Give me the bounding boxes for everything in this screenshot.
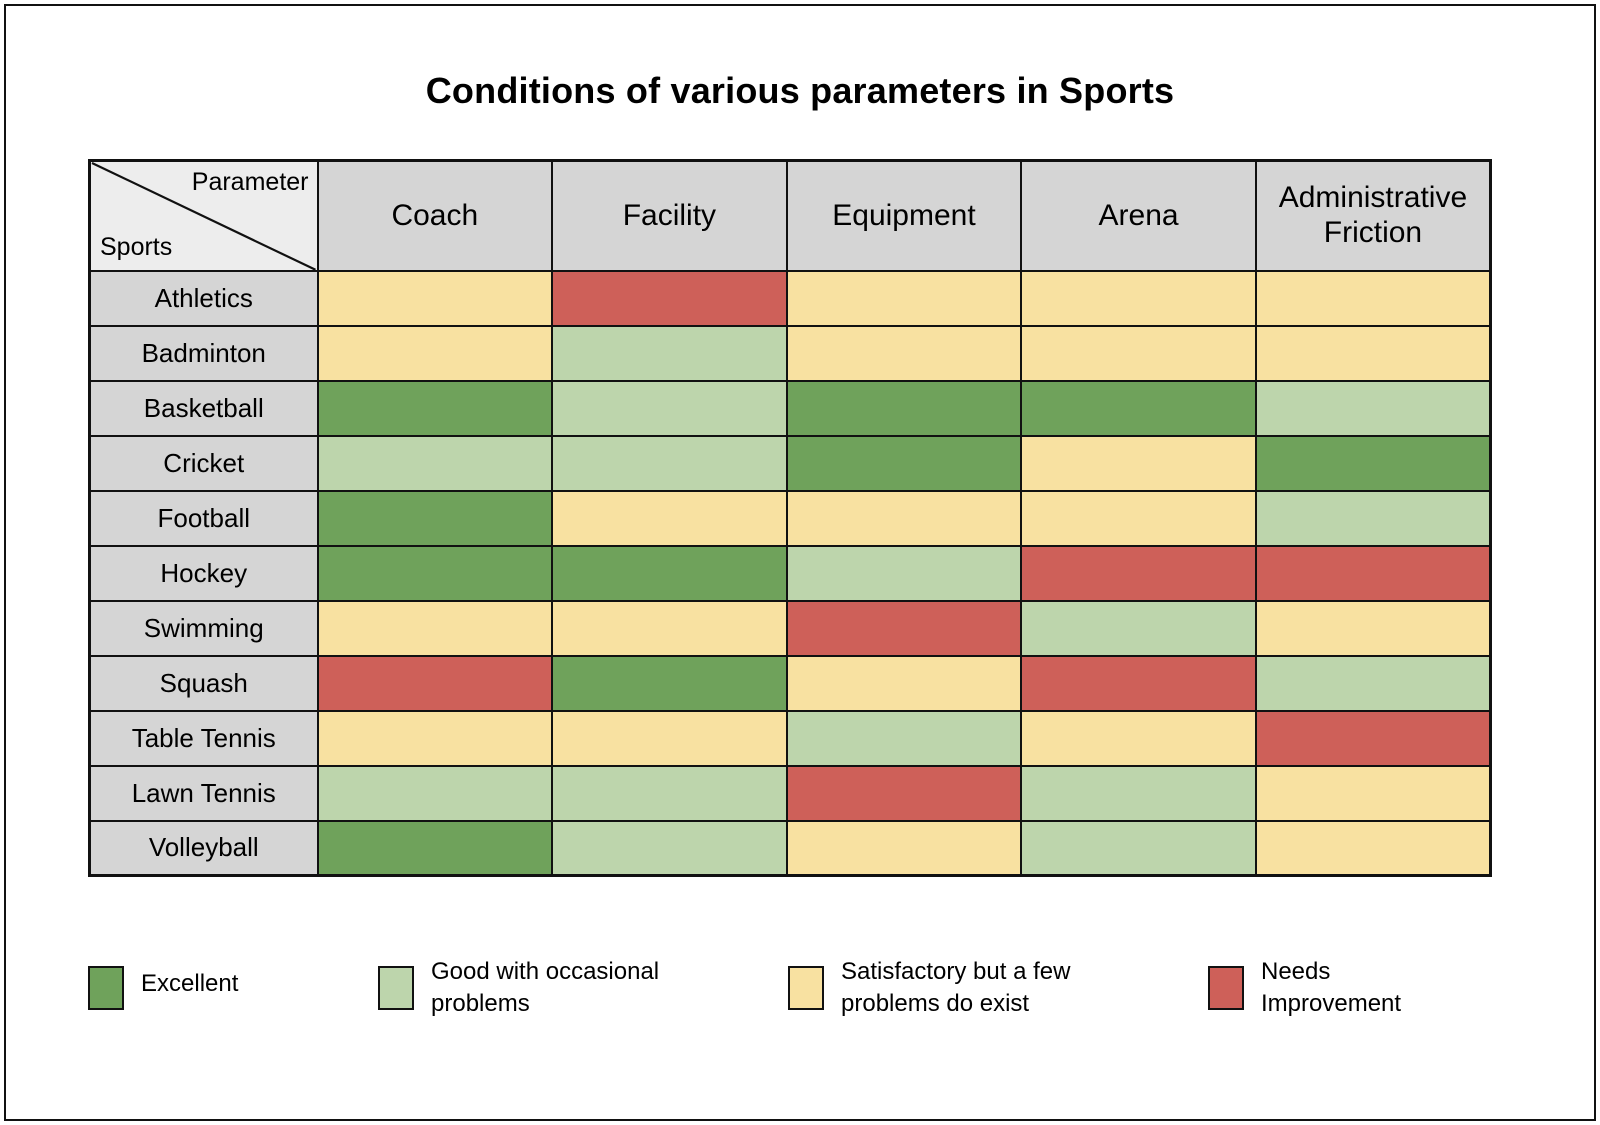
legend-item-needs-improvement[interactable]: Needs Improvement (1208, 956, 1508, 1019)
heatmap-cell[interactable] (787, 601, 1022, 656)
corner-sports-label: Sports (100, 234, 172, 262)
matrix-row: Cricket (90, 436, 1491, 491)
heatmap-cell[interactable] (1021, 381, 1256, 436)
heatmap-cell[interactable] (1021, 326, 1256, 381)
heatmap-cell[interactable] (787, 656, 1022, 711)
heatmap-cell[interactable] (1021, 546, 1256, 601)
legend-swatch-icon (378, 966, 414, 1010)
corner-parameter-label: Parameter (192, 169, 309, 197)
heatmap-cell[interactable] (318, 821, 553, 876)
heatmap-cell[interactable] (1021, 711, 1256, 766)
matrix-row: Volleyball (90, 821, 1491, 876)
heatmap-cell[interactable] (787, 546, 1022, 601)
heatmap-cell[interactable] (318, 271, 553, 326)
row-header-table-tennis: Table Tennis (90, 711, 318, 766)
heatmap-cell[interactable] (1256, 436, 1491, 491)
row-header-swimming: Swimming (90, 601, 318, 656)
heatmap-cell[interactable] (318, 601, 553, 656)
row-header-athletics: Athletics (90, 271, 318, 326)
row-header-volleyball: Volleyball (90, 821, 318, 876)
heatmap-cell[interactable] (787, 271, 1022, 326)
heatmap-cell[interactable] (318, 766, 553, 821)
heatmap-cell[interactable] (1256, 326, 1491, 381)
row-header-cricket: Cricket (90, 436, 318, 491)
column-header-administrative-friction: Administrative Friction (1256, 161, 1491, 271)
heatmap-cell[interactable] (1021, 271, 1256, 326)
corner-axis-cell: Parameter Sports (90, 161, 318, 271)
heatmap-cell[interactable] (787, 381, 1022, 436)
heatmap-cell[interactable] (1021, 491, 1256, 546)
page-title: Conditions of various parameters in Spor… (6, 70, 1594, 112)
legend-label: Good with occasional problems (431, 956, 721, 1019)
legend-label: Satisfactory but a few problems do exist (841, 956, 1131, 1019)
heatmap-cell[interactable] (552, 601, 787, 656)
heatmap-cell[interactable] (318, 546, 553, 601)
heatmap-cell[interactable] (552, 711, 787, 766)
row-header-squash: Squash (90, 656, 318, 711)
matrix-row: Table Tennis (90, 711, 1491, 766)
row-header-badminton: Badminton (90, 326, 318, 381)
matrix-row: Athletics (90, 271, 1491, 326)
heatmap-cell[interactable] (1021, 601, 1256, 656)
matrix-row: Squash (90, 656, 1491, 711)
legend-swatch-icon (788, 966, 824, 1010)
heatmap-cell[interactable] (1256, 546, 1491, 601)
matrix-row: Hockey (90, 546, 1491, 601)
heatmap-cell[interactable] (552, 326, 787, 381)
heatmap-cell[interactable] (787, 436, 1022, 491)
heatmap-cell[interactable] (318, 711, 553, 766)
legend-item-excellent[interactable]: Excellent (88, 956, 378, 1010)
heatmap-cell[interactable] (1256, 656, 1491, 711)
heatmap-cell[interactable] (1021, 821, 1256, 876)
heatmap-cell[interactable] (787, 326, 1022, 381)
heatmap-cell[interactable] (787, 766, 1022, 821)
heatmap-cell[interactable] (1256, 271, 1491, 326)
matrix-row: Basketball (90, 381, 1491, 436)
heatmap-cell[interactable] (552, 436, 787, 491)
legend-swatch-icon (1208, 966, 1244, 1010)
heatmap-cell[interactable] (552, 766, 787, 821)
conditions-matrix: Parameter Sports Coach Facility Equipmen… (88, 159, 1492, 877)
heatmap-cell[interactable] (318, 381, 553, 436)
column-header-arena: Arena (1021, 161, 1256, 271)
figure-frame: Conditions of various parameters in Spor… (4, 4, 1596, 1121)
heatmap-cell[interactable] (318, 656, 553, 711)
heatmap-cell[interactable] (1021, 766, 1256, 821)
matrix-row: Lawn Tennis (90, 766, 1491, 821)
legend: ExcellentGood with occasional problemsSa… (88, 956, 1508, 1019)
heatmap-cell[interactable] (318, 436, 553, 491)
legend-label: Excellent (141, 968, 238, 1000)
heatmap-cell[interactable] (552, 821, 787, 876)
row-header-lawn-tennis: Lawn Tennis (90, 766, 318, 821)
heatmap-cell[interactable] (1256, 711, 1491, 766)
heatmap-cell[interactable] (552, 271, 787, 326)
heatmap-cell[interactable] (318, 491, 553, 546)
heatmap-cell[interactable] (787, 711, 1022, 766)
matrix-body: AthleticsBadmintonBasketballCricketFootb… (90, 271, 1491, 876)
heatmap-cell[interactable] (318, 326, 553, 381)
matrix-header-row: Parameter Sports Coach Facility Equipmen… (90, 161, 1491, 271)
heatmap-cell[interactable] (1256, 491, 1491, 546)
heatmap-cell[interactable] (552, 656, 787, 711)
row-header-football: Football (90, 491, 318, 546)
heatmap-cell[interactable] (787, 491, 1022, 546)
legend-item-satisfactory[interactable]: Satisfactory but a few problems do exist (788, 956, 1208, 1019)
heatmap-cell[interactable] (1021, 436, 1256, 491)
matrix-row: Swimming (90, 601, 1491, 656)
column-header-facility: Facility (552, 161, 787, 271)
heatmap-cell[interactable] (787, 821, 1022, 876)
heatmap-cell[interactable] (1256, 821, 1491, 876)
heatmap-cell[interactable] (1021, 656, 1256, 711)
matrix-row: Football (90, 491, 1491, 546)
heatmap-cell[interactable] (1256, 766, 1491, 821)
heatmap-cell[interactable] (552, 381, 787, 436)
heatmap-cell[interactable] (552, 491, 787, 546)
row-header-basketball: Basketball (90, 381, 318, 436)
legend-item-good[interactable]: Good with occasional problems (378, 956, 788, 1019)
column-header-equipment: Equipment (787, 161, 1022, 271)
legend-swatch-icon (88, 966, 124, 1010)
legend-label: Needs Improvement (1261, 956, 1461, 1019)
matrix-row: Badminton (90, 326, 1491, 381)
heatmap-cell[interactable] (1256, 601, 1491, 656)
matrix-header: Parameter Sports Coach Facility Equipmen… (90, 161, 1491, 271)
row-header-hockey: Hockey (90, 546, 318, 601)
column-header-coach: Coach (318, 161, 553, 271)
heatmap-cell[interactable] (1256, 381, 1491, 436)
heatmap-cell[interactable] (552, 546, 787, 601)
